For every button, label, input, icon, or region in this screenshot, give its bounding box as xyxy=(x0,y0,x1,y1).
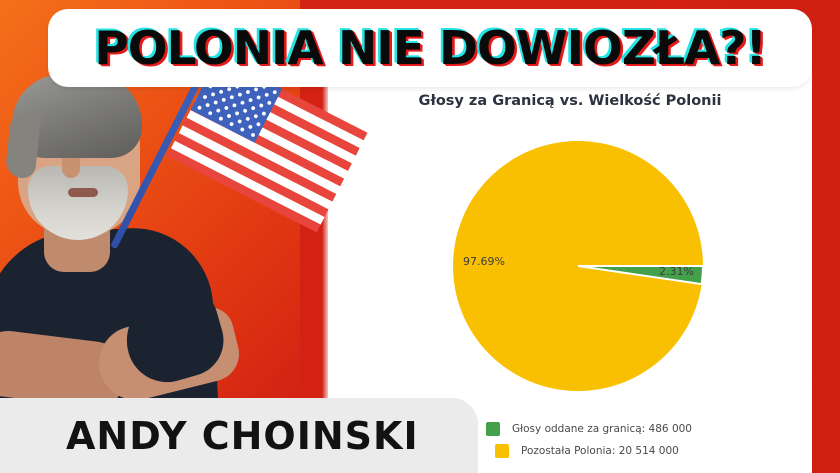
chart-title: Głosy za Granicą vs. Wielkość Polonii xyxy=(328,93,812,109)
legend-item-glosy[interactable]: Głosy oddane za granicą: 486 000 xyxy=(486,418,692,440)
chart-legend: Głosy oddane za granicą: 486 000 Pozosta… xyxy=(486,418,692,462)
pie-percent-minor: 2.31% xyxy=(659,265,694,278)
legend-swatch-yellow xyxy=(495,444,509,458)
page-title: POLONIA NIE DOWIOZŁA?! xyxy=(94,21,765,75)
pie-percent-major: 97.69% xyxy=(463,255,505,268)
legend-swatch-green xyxy=(486,422,500,436)
thumbnail-canvas: Głosy za Granicą vs. Wielkość Polonii 97… xyxy=(0,0,840,473)
presenter-name-banner: ANDY CHOINSKI xyxy=(0,398,478,473)
presenter-name: ANDY CHOINSKI xyxy=(66,414,419,458)
legend-label-polonia: Pozostała Polonia: 20 514 000 xyxy=(521,445,679,457)
legend-item-polonia[interactable]: Pozostała Polonia: 20 514 000 xyxy=(495,440,692,462)
legend-label-glosy: Głosy oddane za granicą: 486 000 xyxy=(512,423,692,435)
headline-banner: POLONIA NIE DOWIOZŁA?! xyxy=(48,9,812,87)
portrait-mouth xyxy=(68,188,98,197)
